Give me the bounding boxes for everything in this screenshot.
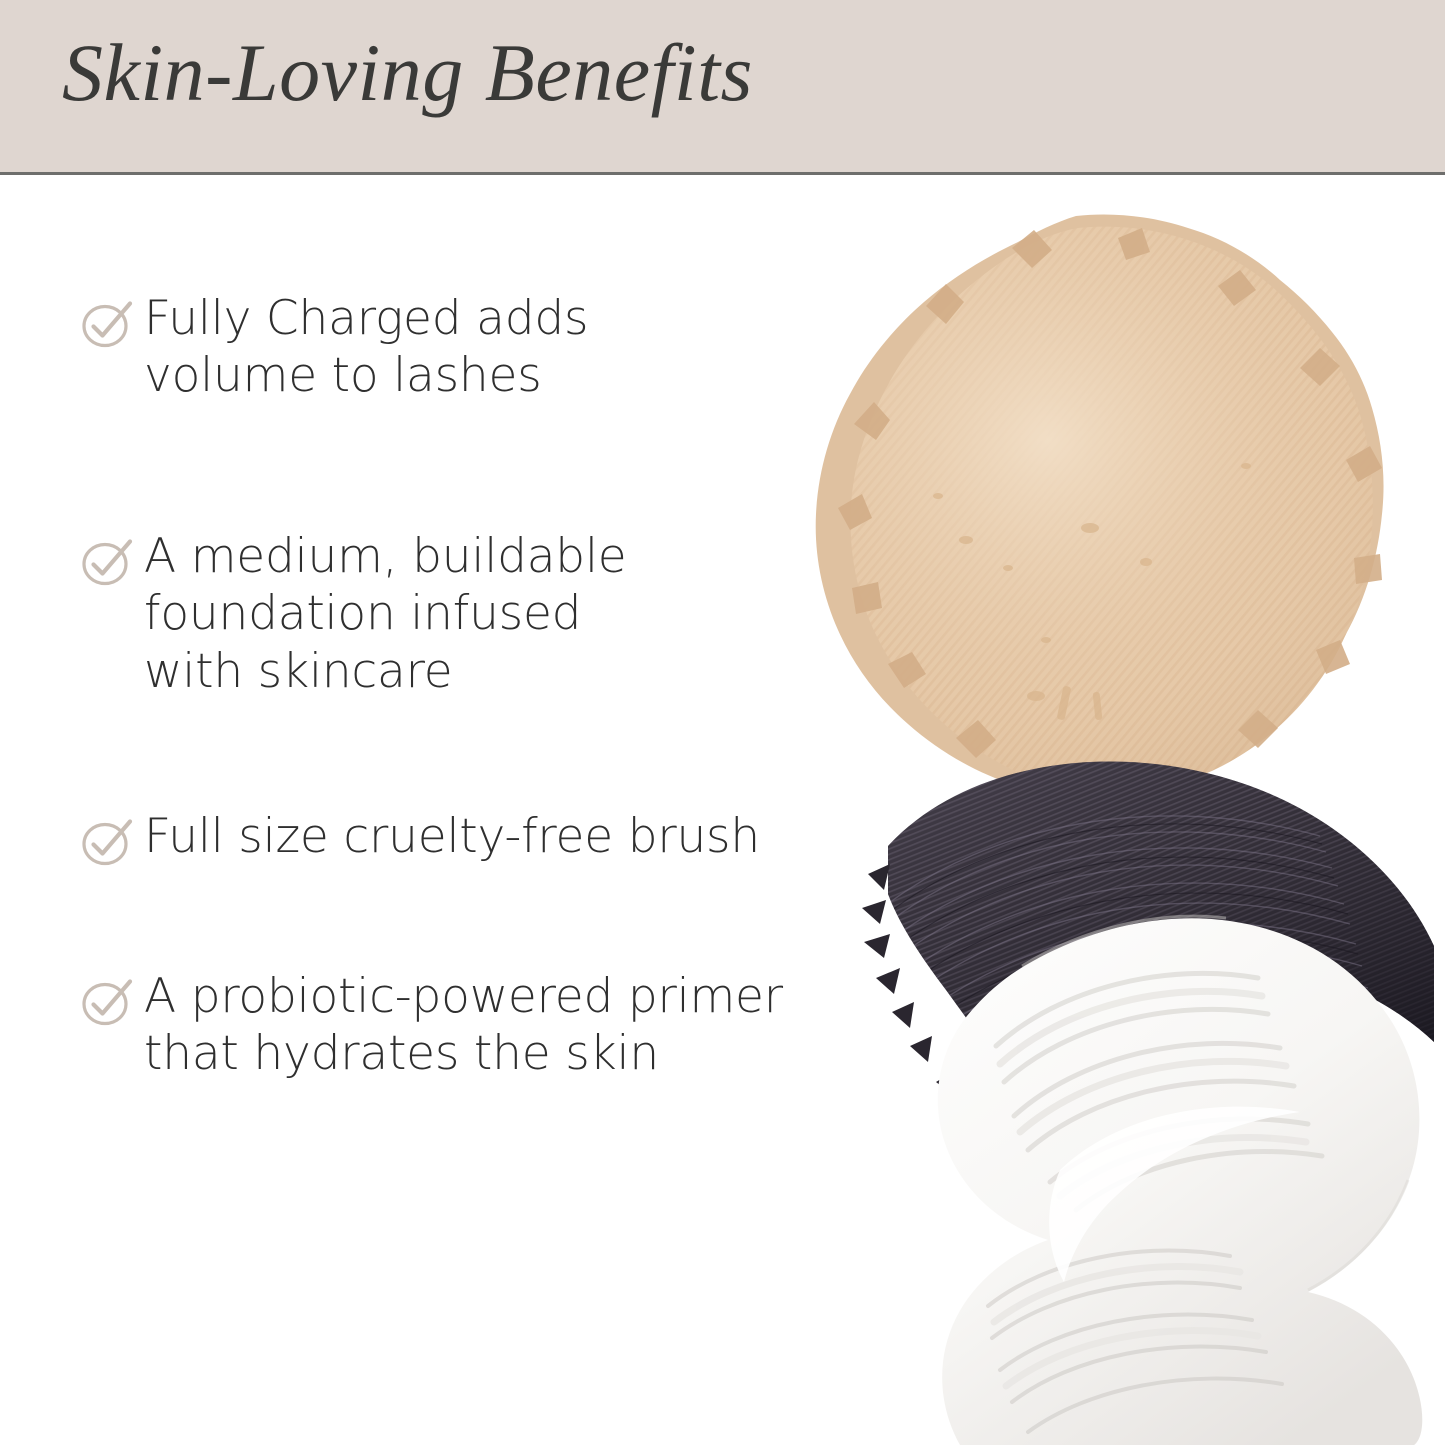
check-circle-icon [80,975,134,1029]
pressed-powder-foundation-swatch [760,210,1445,850]
product-benefits-infographic: Skin-Loving Benefits Fully Charged adds … [0,0,1445,1445]
page-title: Skin-Loving Benefits [62,32,753,114]
list-item-label: Fully Charged adds volume to lashes [144,290,588,405]
check-circle-icon [80,535,134,589]
list-item: Full size cruelty-free brush [80,808,760,869]
list-item: A probiotic-powered primer that hydrates… [80,968,783,1083]
product-swatch-artwork [760,210,1445,1445]
list-item: A medium, buildable foundation infused w… [80,528,627,700]
check-circle-icon [80,815,134,869]
list-item-label: A probiotic-powered primer that hydrates… [144,968,783,1083]
check-circle-icon [80,297,134,351]
header-divider-rule [0,172,1445,175]
list-item-label: Full size cruelty-free brush [144,808,760,865]
list-item: Fully Charged adds volume to lashes [80,290,588,405]
list-item-label: A medium, buildable foundation infused w… [144,528,627,700]
